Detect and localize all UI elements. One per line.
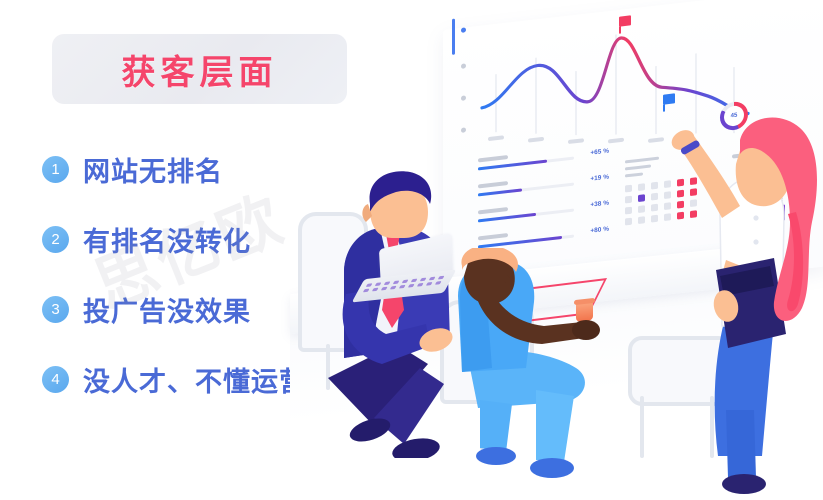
metric-value: +19 % bbox=[590, 174, 609, 183]
seated-shin-b bbox=[480, 400, 512, 452]
heatmap-cell bbox=[651, 204, 658, 212]
seated-shoe-a bbox=[530, 458, 574, 478]
heatmap-cell bbox=[638, 183, 645, 191]
heatmap-cell bbox=[625, 196, 632, 204]
person-presenter bbox=[670, 110, 823, 500]
heatmap-cell bbox=[625, 207, 632, 215]
heatmap-cell bbox=[651, 215, 658, 223]
list-item-number: 1 bbox=[42, 156, 69, 183]
person-seated bbox=[440, 248, 630, 500]
heatmap-cell bbox=[625, 185, 632, 193]
list-item-number: 2 bbox=[42, 226, 69, 253]
nav-dot-3-icon[interactable] bbox=[461, 95, 466, 101]
seated-shoe-b bbox=[476, 447, 516, 465]
heatmap-cell bbox=[625, 218, 632, 226]
presenter-shoe bbox=[722, 474, 766, 494]
metric-value: +80 % bbox=[590, 226, 609, 235]
heatmap-cell bbox=[651, 182, 658, 190]
office-illustration: 45 +65 % +19 % bbox=[280, 0, 823, 500]
page-title: 获客层面 bbox=[122, 45, 278, 94]
sidebar-active-indicator bbox=[452, 19, 455, 55]
list-item-label: 投广告没效果 bbox=[83, 290, 251, 329]
metric-value: +65 % bbox=[590, 148, 609, 157]
presenter-leg bbox=[726, 410, 756, 478]
heatmap-cell bbox=[638, 216, 645, 224]
seated-hand bbox=[572, 320, 600, 340]
list-item-label: 有排名没转化 bbox=[83, 220, 251, 259]
metric-label-bar bbox=[478, 155, 508, 162]
list-item-number: 3 bbox=[42, 296, 69, 323]
poster-canvas: 获客层面 1 网站无排名 2 有排名没转化 3 投广告没效果 4 没人才、不懂运… bbox=[0, 0, 823, 500]
heatmap-cell bbox=[651, 193, 658, 201]
nav-dot-4-icon[interactable] bbox=[461, 127, 466, 133]
list-item-label: 网站无排名 bbox=[83, 150, 223, 189]
heatmap-cell bbox=[638, 205, 645, 213]
dashboard-sidebar bbox=[452, 15, 468, 155]
heatmap-cell bbox=[638, 194, 645, 202]
chair-right-leg-a bbox=[640, 396, 644, 458]
list-item-number: 4 bbox=[42, 366, 69, 393]
peak-flag-marker-icon bbox=[619, 15, 631, 26]
low-flag-marker-icon bbox=[663, 93, 675, 104]
laptop-keys bbox=[363, 276, 447, 293]
nav-dot-2-icon[interactable] bbox=[461, 63, 466, 69]
metric-value: +38 % bbox=[590, 200, 609, 209]
seated-shin bbox=[536, 390, 574, 462]
list-item-label: 没人才、不懂运营 bbox=[83, 360, 307, 399]
nav-dot-1-icon[interactable] bbox=[461, 27, 466, 33]
